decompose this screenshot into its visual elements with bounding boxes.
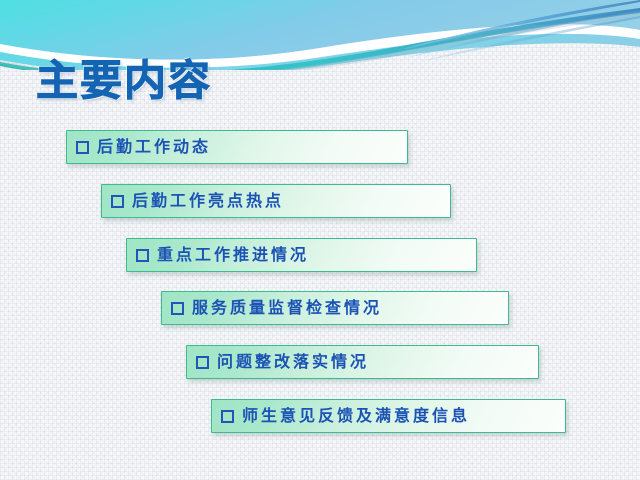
square-outline-icon — [171, 302, 184, 315]
content-bar-list: 后勤工作动态后勤工作亮点热点重点工作推进情况服务质量监督检查情况问题整改落实情况… — [0, 0, 640, 480]
content-bar-label: 后勤工作动态 — [97, 138, 211, 156]
content-bar-label: 服务质量监督检查情况 — [192, 299, 382, 317]
content-bar[interactable]: 师生意见反馈及满意度信息 — [211, 399, 566, 433]
content-bar[interactable]: 服务质量监督检查情况 — [161, 291, 509, 325]
content-bar-label: 问题整改落实情况 — [217, 353, 369, 371]
content-bar-inner: 后勤工作亮点热点 — [102, 192, 284, 210]
presentation-slide: 主要内容 后勤工作动态后勤工作亮点热点重点工作推进情况服务质量监督检查情况问题整… — [0, 0, 640, 480]
content-bar-label: 后勤工作亮点热点 — [132, 192, 284, 210]
square-outline-icon — [221, 410, 234, 423]
content-bar[interactable]: 重点工作推进情况 — [126, 238, 477, 272]
content-bar[interactable]: 后勤工作亮点热点 — [101, 184, 451, 218]
content-bar-inner: 重点工作推进情况 — [127, 246, 309, 264]
square-outline-icon — [196, 356, 209, 369]
content-bar-inner: 师生意见反馈及满意度信息 — [212, 407, 470, 425]
square-outline-icon — [111, 195, 124, 208]
square-outline-icon — [76, 141, 89, 154]
content-bar-inner: 问题整改落实情况 — [187, 353, 369, 371]
content-bar-inner: 服务质量监督检查情况 — [162, 299, 382, 317]
content-bar-label: 师生意见反馈及满意度信息 — [242, 407, 470, 425]
content-bar[interactable]: 后勤工作动态 — [66, 130, 408, 164]
square-outline-icon — [136, 249, 149, 262]
content-bar[interactable]: 问题整改落实情况 — [186, 345, 539, 379]
content-bar-label: 重点工作推进情况 — [157, 246, 309, 264]
content-bar-inner: 后勤工作动态 — [67, 138, 211, 156]
